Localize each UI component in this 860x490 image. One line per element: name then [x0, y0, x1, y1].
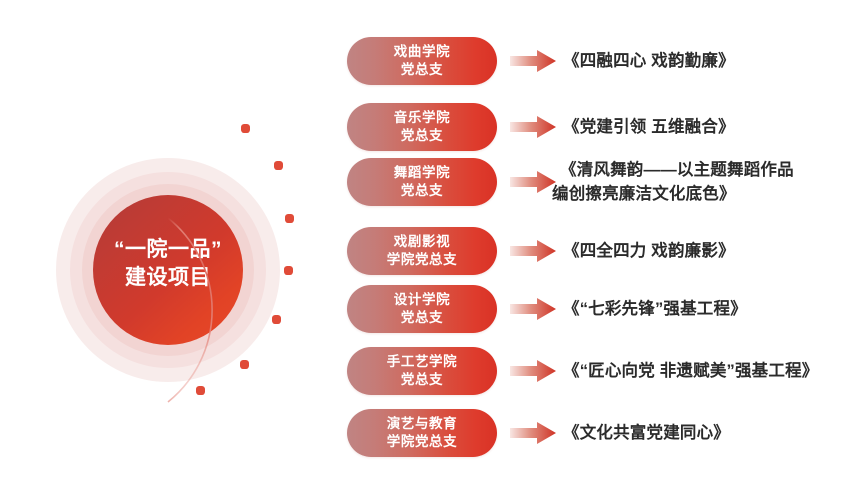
- project-title-1: 《四融四心 戏韵勤廉》: [563, 37, 735, 85]
- orbit-dot-2: [274, 161, 283, 170]
- arrow-right-icon: [510, 360, 556, 382]
- orbit-dot-4: [284, 266, 293, 275]
- project-title-7: 《文化共富党建同心》: [563, 409, 730, 457]
- branch-pill-1-line2: 党总支: [401, 61, 443, 79]
- project-title-7-line1: 《文化共富党建同心》: [563, 421, 730, 445]
- project-title-6-line1: 《“匠心向党 非遗赋美”强基工程》: [563, 359, 818, 383]
- branch-pill-3-line1: 舞蹈学院: [394, 164, 450, 182]
- branch-pill-1[interactable]: 戏曲学院 党总支: [347, 37, 497, 85]
- orbit-dot-3: [285, 214, 294, 223]
- branch-pill-2-line1: 音乐学院: [394, 109, 450, 127]
- orbit-dot-6: [240, 360, 249, 369]
- branch-pill-4-line1: 戏剧影视: [394, 233, 450, 251]
- branch-pill-5-line2: 党总支: [401, 309, 443, 327]
- arrow-right-icon: [510, 240, 556, 262]
- project-title-2: 《党建引领 五维融合》: [563, 103, 735, 151]
- branch-pill-6-line2: 党总支: [401, 371, 443, 389]
- branch-pill-5-line1: 设计学院: [394, 291, 450, 309]
- project-title-5-line1: 《“七彩先锋”强基工程》: [563, 297, 747, 321]
- orbit-dots: [196, 124, 294, 395]
- branch-pill-6[interactable]: 手工艺学院 党总支: [347, 347, 497, 395]
- arrow-right-icon: [510, 422, 556, 444]
- project-title-4: 《四全四力 戏韵廉影》: [563, 227, 735, 275]
- slide-canvas: “一院一品” 建设项目: [0, 0, 860, 490]
- project-title-6: 《“匠心向党 非遗赋美”强基工程》: [563, 347, 818, 395]
- project-title-2-line1: 《党建引领 五维融合》: [563, 115, 735, 139]
- branch-pill-5[interactable]: 设计学院 党总支: [347, 285, 497, 333]
- branch-pill-2-line2: 党总支: [401, 127, 443, 145]
- orbit-dot-5: [272, 315, 281, 324]
- orbit-dot-7: [196, 386, 205, 395]
- branch-pill-2[interactable]: 音乐学院 党总支: [347, 103, 497, 151]
- project-title-4-line1: 《四全四力 戏韵廉影》: [563, 239, 735, 263]
- arrow-right-icon: [510, 298, 556, 320]
- branch-pill-7-line1: 演艺与教育: [387, 415, 458, 433]
- orbit-path: [168, 218, 212, 402]
- branch-pill-7-line2: 学院党总支: [387, 433, 458, 451]
- branch-pill-3-line2: 党总支: [401, 182, 443, 200]
- orbit-dot-1: [241, 124, 250, 133]
- branch-pill-1-line1: 戏曲学院: [394, 43, 450, 61]
- project-title-3: 《清风舞韵——以主题舞蹈作品 编创擦亮廉洁文化底色》: [560, 158, 794, 206]
- project-title-1-line1: 《四融四心 戏韵勤廉》: [563, 49, 735, 73]
- branch-pill-4[interactable]: 戏剧影视 学院党总支: [347, 227, 497, 275]
- arrow-right-icon: [510, 50, 556, 72]
- branch-pill-4-line2: 学院党总支: [387, 251, 458, 269]
- orbit-arc: [0, 0, 345, 490]
- arrow-right-icon: [510, 171, 556, 193]
- project-title-3-line1: 《清风舞韵——以主题舞蹈作品: [560, 158, 794, 182]
- branch-pill-7[interactable]: 演艺与教育 学院党总支: [347, 409, 497, 457]
- project-title-3-line2: 编创擦亮廉洁文化底色》: [552, 182, 794, 206]
- arrow-right-icon: [510, 116, 556, 138]
- central-hub: “一院一品” 建设项目: [0, 0, 345, 490]
- project-title-5: 《“七彩先锋”强基工程》: [563, 285, 747, 333]
- branch-pill-6-line1: 手工艺学院: [387, 353, 458, 371]
- branch-pill-3[interactable]: 舞蹈学院 党总支: [347, 158, 497, 206]
